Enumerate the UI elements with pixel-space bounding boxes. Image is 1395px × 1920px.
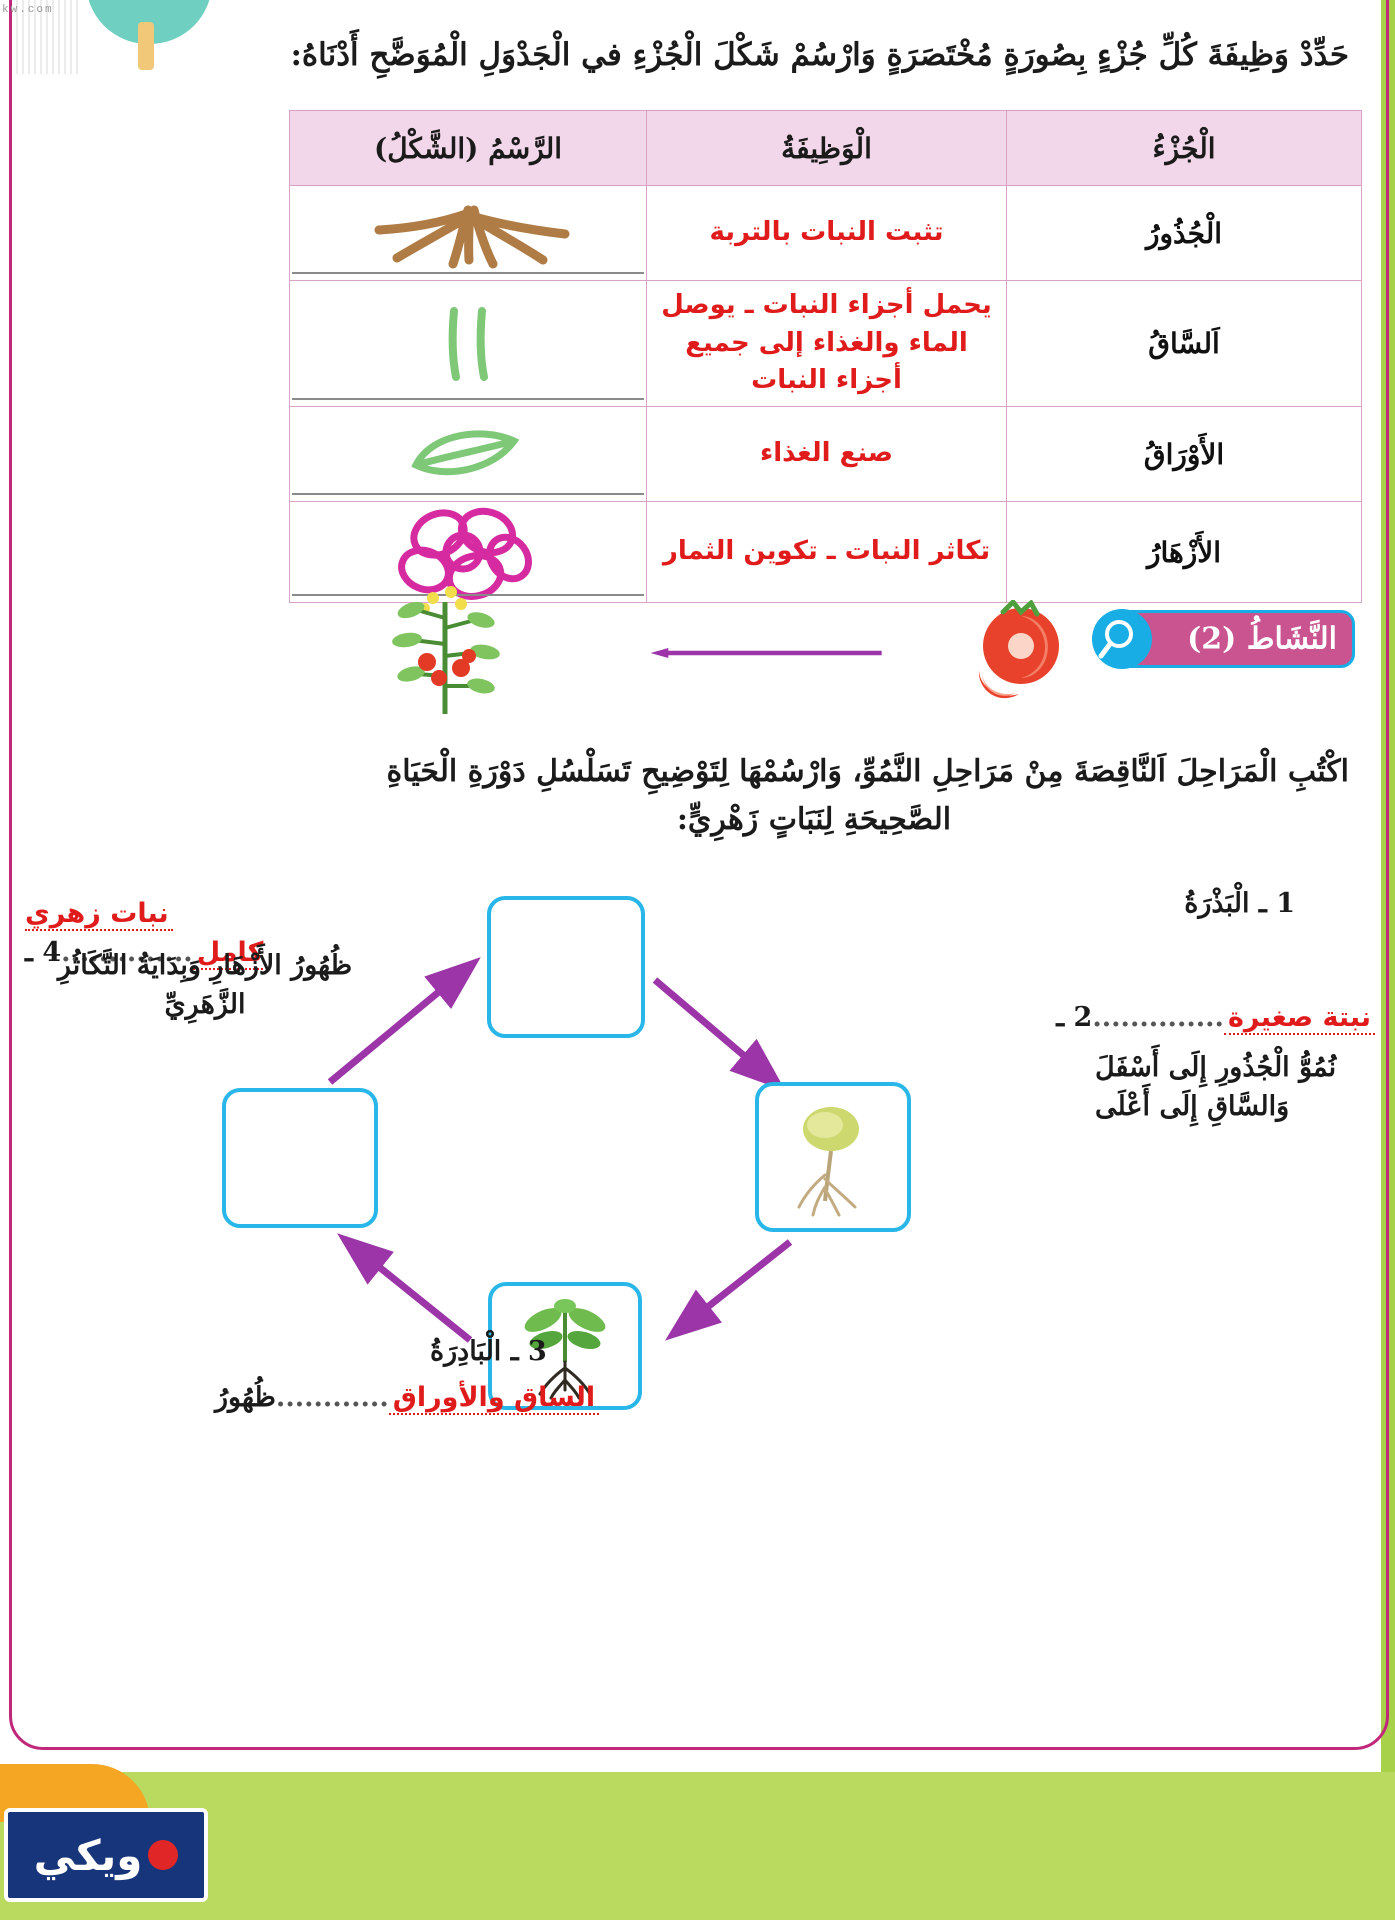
cell-part-roots: الْجُذُورُ [1007,186,1362,281]
table-header-row: الْجُزْءُ الْوَظِيفَةُ الرَّسْمُ (الشَّك… [290,111,1362,186]
tomato-fruit-icon [955,600,1075,710]
roots-svg [343,194,593,272]
stem-sketch-icon [290,281,646,406]
cell-function-flowers: تكاثر النبات ـ تكوين الثمار [647,502,1007,603]
cell-part-leaves: الأَوْرَاقُ [1007,407,1362,502]
header-part: الْجُزْءُ [1007,111,1362,186]
cell-drawing-stem[interactable] [290,281,647,407]
cycle-box-seed[interactable] [487,896,645,1038]
stage-2-dots: .............. [1092,1002,1224,1033]
stage-2-answer: نبتة صغيرة [1224,1002,1375,1035]
cycle-box-sprout[interactable] [755,1082,911,1232]
header-function: الْوَظِيفَةُ [647,111,1007,186]
table-row: اَلسَّاقُ يحمل أجزاء النبات ـ يوصل الماء… [290,281,1362,407]
stage-2-number: 2 ـ [1056,1002,1092,1033]
table-row: الأَوْرَاقُ صنع الغذاء [290,407,1362,502]
prompt-line-1: اكْتُبِ الْمَرَاحِلَ اَلنَّاقِصَةَ مِنْ … [279,748,1349,796]
prompt-life-cycle: اكْتُبِ الْمَرَاحِلَ اَلنَّاقِصَةَ مِنْ … [279,748,1349,844]
leaf-svg [388,421,548,487]
life-cycle-diagram: 1 ـ الْبَذْرَةُ نبتة صغيرة..............… [0,870,1395,1470]
prompt-line-2: الصَّحِيحَةِ لِنَبَاتٍ زَهْرِيٍّ: [279,796,1349,844]
activity-badge-label: النَّشَاطُ (2) [1187,622,1337,657]
drawing-rule-line [292,493,644,495]
cell-drawing-leaves[interactable] [290,407,647,502]
cell-function-leaves: صنع الغذاء [647,407,1007,502]
drawing-rule-line [292,272,644,274]
stage-2-label: نبتة صغيرة..............2 ـ [1045,998,1375,1037]
logo-text: ويكي [34,1831,143,1880]
logo-plate: ويكي [4,1808,208,1902]
leaf-sketch-icon [290,407,646,501]
table-body: الْجُذُورُ تثبت النبات بالتربة [290,186,1362,603]
deco-stem [138,22,154,70]
stage-3-label: 3 ـ الْبَادِرَةُ [430,1332,660,1371]
stage-1-label: 1 ـ الْبَذْرَةُ [1025,884,1295,923]
worksheet-page: kw.com حَدِّدْ وَظِيفَةَ كُلِّ جُزْءٍ بِ… [0,0,1395,1920]
header-drawing: الرَّسْمُ (الشَّكْلُ) [290,111,647,186]
stage-3-answer: الساق والأوراق [389,1382,599,1415]
page-frame-bottom [0,1772,1395,1920]
tomato-arrow-strip [335,600,1095,720]
stage-4-description: ظُهُورُ الأَزْهَارِ وَبِدَايَةُ التَّكَا… [25,946,385,1024]
activity-badge: النَّشَاطُ (2) [1107,610,1355,668]
cell-part-stem: اَلسَّاقُ [1007,281,1362,407]
cycle-box-full-plant[interactable] [222,1088,378,1228]
stage-3-desc-text: ظُهُورُ [215,1382,276,1413]
stem-svg [408,303,528,385]
cell-drawing-roots[interactable] [290,186,647,281]
intro-instruction: حَدِّدْ وَظِيفَةَ كُلِّ جُزْءٍ بِصُورَةٍ… [259,32,1349,79]
top-decoration [86,0,212,72]
drawing-rule-line [292,398,644,400]
plant-parts-table: الْجُزْءُ الْوَظِيفَةُ الرَّسْمُ (الشَّك… [289,110,1362,603]
sprouting-seed-icon [773,1093,893,1221]
cell-part-flowers: الأَزْهَارُ [1007,502,1362,603]
watermark-text: kw.com [2,4,54,16]
table-row: الْجُذُورُ تثبت النبات بالتربة [290,186,1362,281]
magnifier-icon [1091,608,1153,670]
stage-2-description: نُمُوُّ الْجُذُورِ إِلَى أَسْفَلَ وَالسَ… [1095,1048,1375,1126]
cell-function-roots: تثبت النبات بالتربة [647,186,1007,281]
stage-3-description: الساق والأوراق............ظُهُورُ [215,1378,675,1417]
tomato-plant-icon [365,582,525,722]
cell-function-stem: يحمل أجزاء النبات ـ يوصل الماء والغذاء إ… [647,281,1007,407]
left-arrow-icon [555,648,975,658]
site-logo: ويكي [0,1790,208,1910]
stage-3-dots: ............ [276,1382,389,1413]
table-head: الْجُزْءُ الْوَظِيفَةُ الرَّسْمُ (الشَّك… [290,111,1362,186]
roots-sketch-icon [290,186,646,280]
logo-dot-icon [148,1840,178,1870]
